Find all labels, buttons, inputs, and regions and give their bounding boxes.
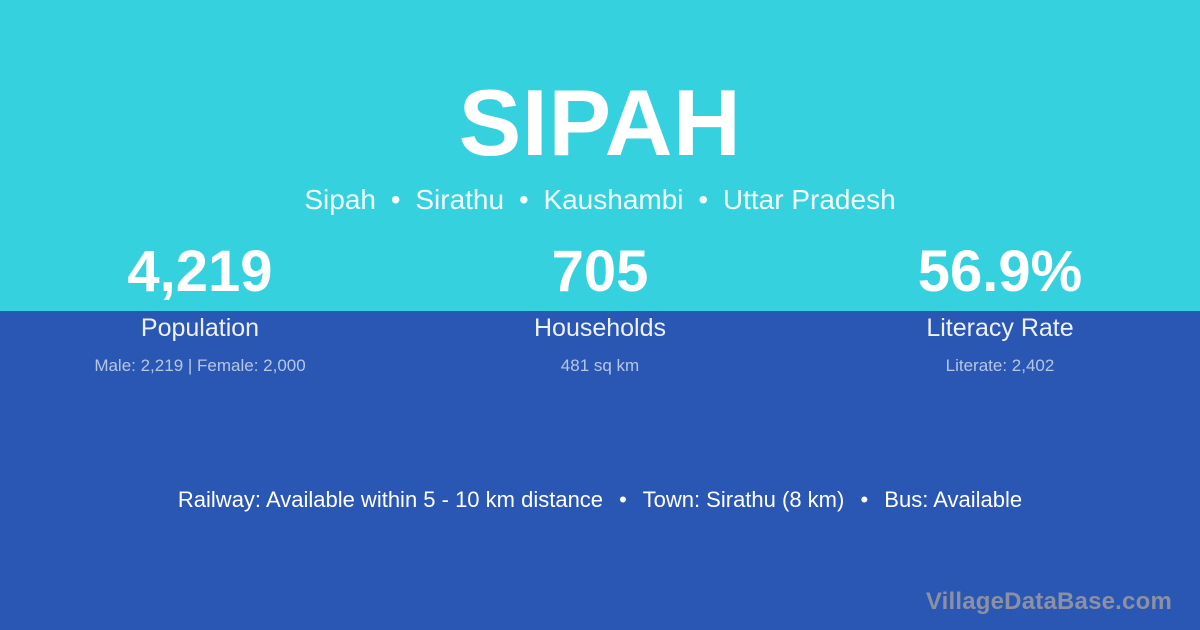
amenities-info-line: Railway: Available within 5 - 10 km dist… bbox=[0, 486, 1200, 514]
stat-sub-detail: Male: 2,219 | Female: 2,000 bbox=[0, 356, 400, 376]
stat-label: Households bbox=[400, 313, 800, 343]
stat-value: 56.9% bbox=[800, 240, 1200, 305]
info-separator: • bbox=[609, 487, 637, 512]
breadcrumb: Sipah • Sirathu • Kaushambi • Uttar Prad… bbox=[0, 183, 1200, 217]
stat-label: Literacy Rate bbox=[800, 313, 1200, 343]
breadcrumb-part-village: Sipah bbox=[304, 184, 376, 215]
breadcrumb-part-block: Sirathu bbox=[415, 184, 504, 215]
stat-sub-detail: Literate: 2,402 bbox=[800, 356, 1200, 376]
stats-row: 4,219 Population Male: 2,219 | Female: 2… bbox=[0, 240, 1200, 376]
stat-population: 4,219 Population Male: 2,219 | Female: 2… bbox=[0, 240, 400, 376]
info-item-railway: Railway: Available within 5 - 10 km dist… bbox=[178, 487, 603, 512]
stat-label: Population bbox=[0, 313, 400, 343]
info-separator: • bbox=[850, 487, 878, 512]
stat-sub-detail: 481 sq km bbox=[400, 356, 800, 376]
breadcrumb-part-state: Uttar Pradesh bbox=[723, 184, 896, 215]
page-title: SIPAH bbox=[0, 74, 1200, 173]
info-item-bus: Bus: Available bbox=[884, 487, 1022, 512]
info-item-town: Town: Sirathu (8 km) bbox=[643, 487, 845, 512]
stat-households: 705 Households 481 sq km bbox=[400, 240, 800, 376]
site-brand: VillageDataBase.com bbox=[926, 588, 1172, 617]
breadcrumb-separator: • bbox=[512, 184, 536, 215]
breadcrumb-part-district: Kaushambi bbox=[543, 184, 683, 215]
breadcrumb-separator: • bbox=[384, 184, 408, 215]
village-info-card: SIPAH Sipah • Sirathu • Kaushambi • Utta… bbox=[0, 0, 1200, 630]
breadcrumb-separator: • bbox=[691, 184, 715, 215]
stat-value: 4,219 bbox=[0, 240, 400, 305]
card-footer: VillageDataBase.com bbox=[926, 588, 1172, 617]
stat-value: 705 bbox=[400, 240, 800, 305]
stat-literacy-rate: 56.9% Literacy Rate Literate: 2,402 bbox=[800, 240, 1200, 376]
